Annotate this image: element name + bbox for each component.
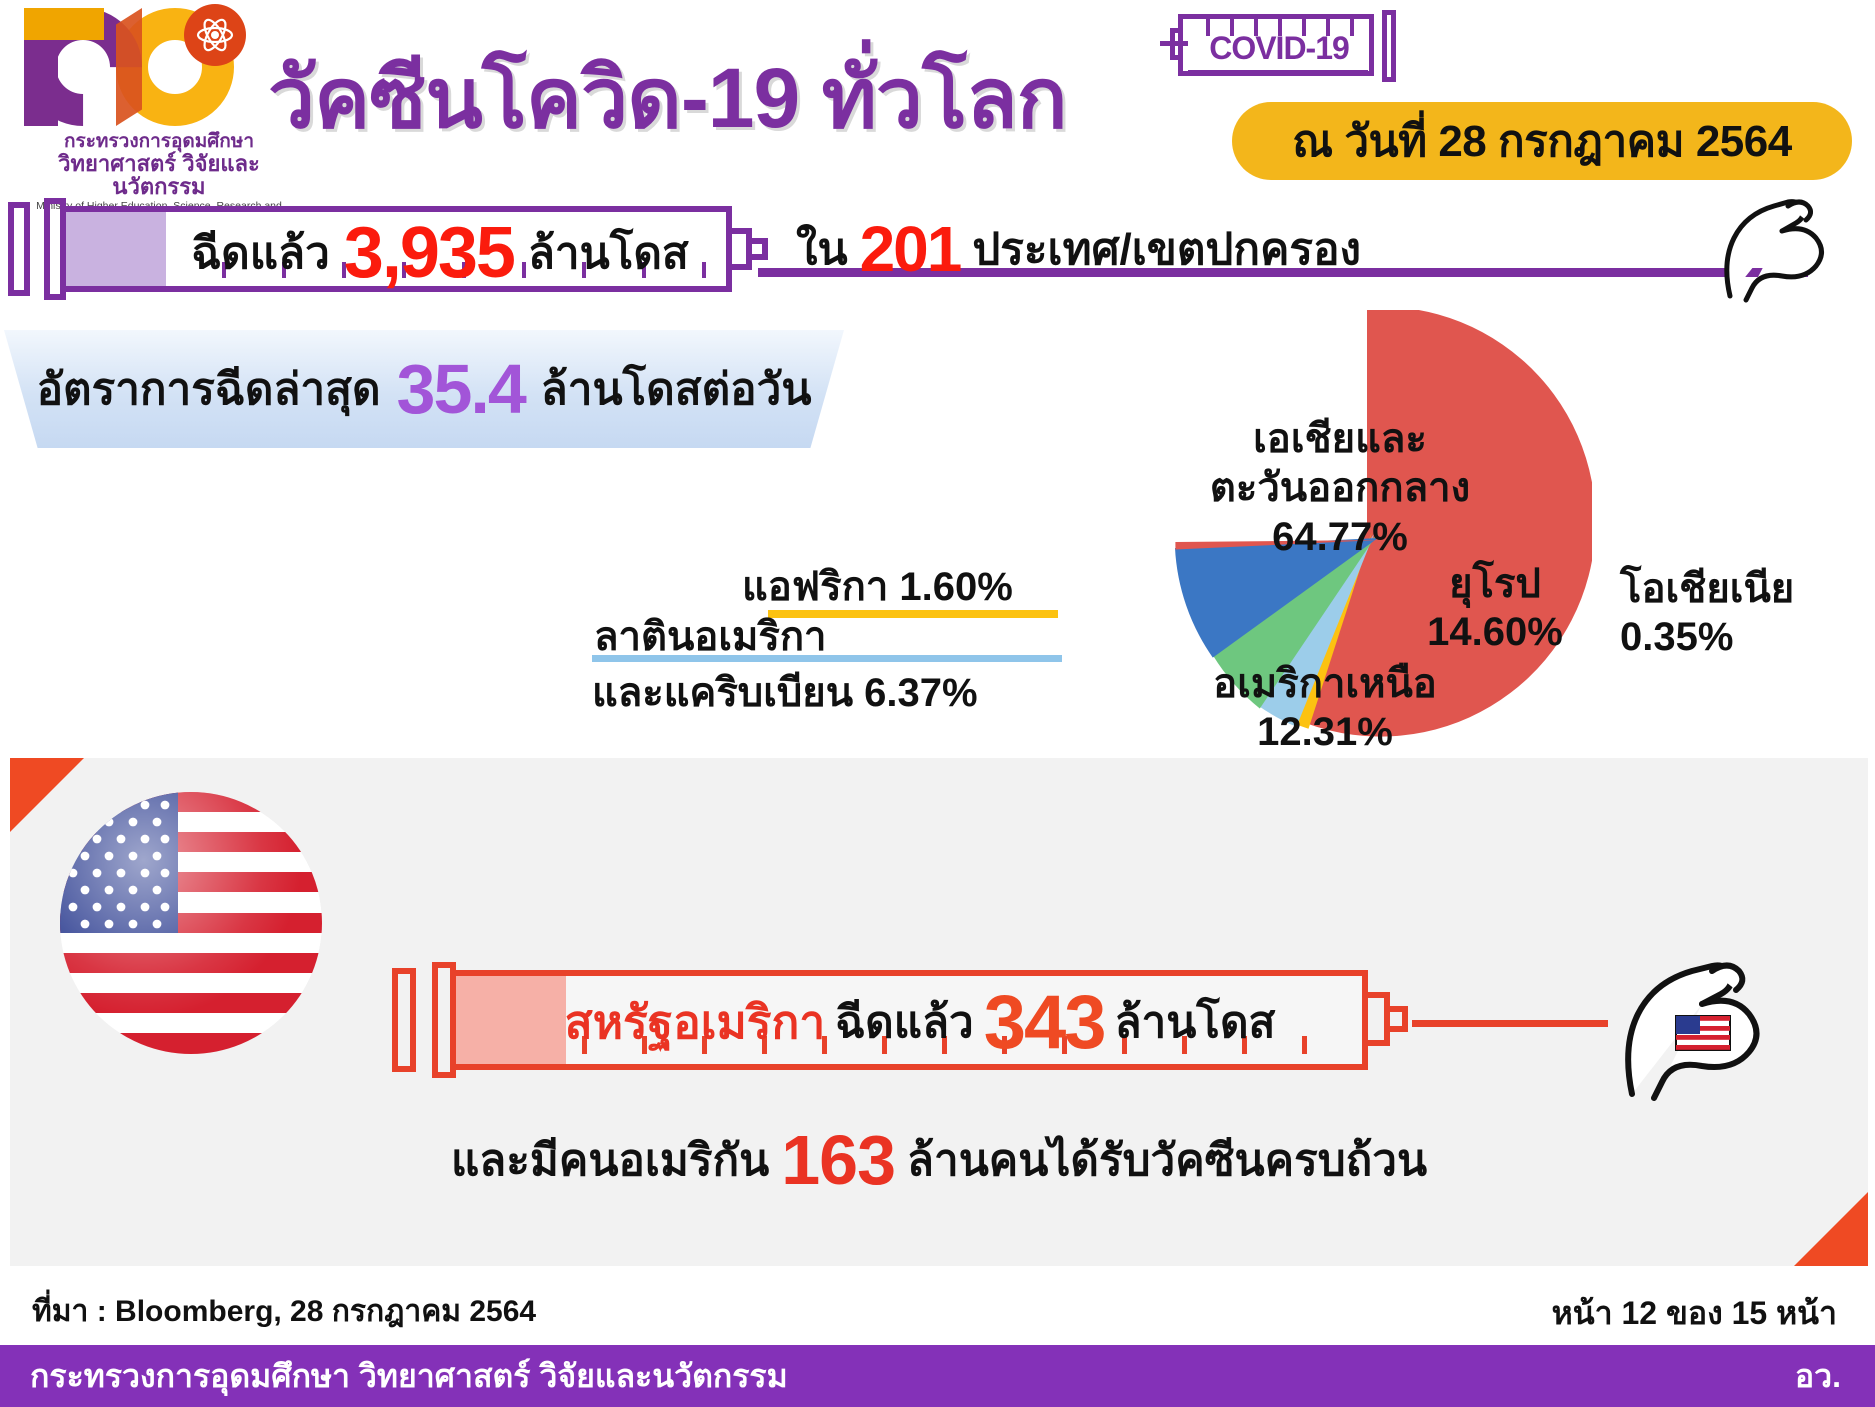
- pie-label-asia: เอเชียและ ตะวันออกกลาง 64.77%: [1180, 415, 1500, 561]
- global-doses-text: ฉีดแล้ว 3,935 ล้านโดส: [150, 218, 730, 288]
- syringe-plunger: [1382, 10, 1396, 82]
- pie-label-north-value: 12.31%: [1160, 708, 1490, 756]
- atom-icon: [184, 4, 246, 66]
- global-doses-value: 3,935: [344, 212, 514, 294]
- usa-doses-text: สหรัฐอเมริกา ฉีดแล้ว 343 ล้านโดส: [470, 980, 1370, 1064]
- countries-text: ใน 201 ประเทศ/เขตปกครอง: [796, 218, 1361, 280]
- pie-label-europe-value: 14.60%: [1400, 608, 1590, 656]
- logo-ring-left-top: [24, 8, 104, 40]
- corner-accent-bottom-right: [1794, 1192, 1868, 1266]
- pie-label-north-name: อเมริกาเหนือ: [1160, 660, 1490, 708]
- page-number: หน้า 12 ของ 15 หน้า: [1552, 1288, 1837, 1339]
- usa-doses-suffix: ล้านโดส: [1115, 987, 1276, 1057]
- pie-label-north-america: อเมริกาเหนือ 12.31%: [1160, 660, 1490, 756]
- ministry-logo: กระทรวงการอุดมศึกษา วิทยาศาสตร์ วิจัยและ…: [14, 8, 304, 193]
- logo-text-line1: กระทรวงการอุดมศึกษา: [14, 132, 304, 152]
- covid-syringe-icon: COVID-19: [1160, 6, 1415, 86]
- vaccination-rate-banner: อัตราการฉีดล่าสุด 35.4 ล้านโดสต่อวัน: [4, 330, 844, 448]
- flag-gloss-overlay: [60, 792, 322, 1054]
- pie-label-oceania-value: 0.35%: [1620, 613, 1870, 661]
- covid-badge-underline: [1188, 70, 1368, 74]
- pie-label-asia-line1: เอเชียและ: [1180, 415, 1500, 464]
- usa-fully-prefix: และมีคนอเมริกัน: [451, 1125, 769, 1195]
- usa-fully-value: 163: [781, 1120, 895, 1200]
- logo-mark: [24, 8, 264, 128]
- flexed-arm-icon: [1700, 176, 1830, 306]
- pie-label-oceania: โอเชียเนีย 0.35%: [1620, 565, 1870, 661]
- global-doses-prefix: ฉีดแล้ว: [191, 218, 330, 288]
- rate-suffix: ล้านโดสต่อวัน: [541, 354, 812, 424]
- source-note: ที่มา : Bloomberg, 28 กรกฎาคม 2564: [32, 1288, 536, 1335]
- date-badge: ณ วันที่ 28 กรกฎาคม 2564: [1232, 102, 1852, 180]
- covid-badge-label: COVID-19: [1186, 30, 1372, 67]
- usa-fully-suffix: ล้านคนได้รับวัคซีนครบถ้วน: [907, 1125, 1427, 1195]
- countries-prefix: ใน: [796, 214, 848, 284]
- page-title: วัคซีนโควิด-19 ทั่วโลก: [268, 30, 1067, 164]
- footer-ministry-name: กระทรวงการอุดมศึกษา วิทยาศาสตร์ วิจัยและ…: [30, 1351, 788, 1402]
- syringe-plunger-rod: [392, 968, 416, 1072]
- pie-label-europe: ยุโรป 14.60%: [1400, 560, 1590, 656]
- pie-label-asia-value: 64.77%: [1180, 513, 1500, 562]
- flexed-arm-us-flag-icon: [1592, 930, 1768, 1106]
- usa-country-label: สหรัฐอเมริกา: [565, 986, 826, 1059]
- syringe-tip-outlet: [1384, 1006, 1408, 1032]
- rate-value: 35.4: [397, 349, 525, 429]
- rate-prefix: อัตราการฉีดล่าสุด: [37, 354, 381, 424]
- pie-label-asia-line2: ตะวันออกกลาง: [1180, 464, 1500, 513]
- vaccination-rate-text: อัตราการฉีดล่าสุด 35.4 ล้านโดสต่อวัน: [37, 349, 812, 429]
- pie-label-oceania-name: โอเชียเนีย: [1620, 565, 1870, 613]
- us-flag-icon: [60, 792, 322, 1054]
- usa-fully-vaccinated-text: และมีคนอเมริกัน 163 ล้านคนได้รับวัคซีนคร…: [10, 1120, 1868, 1200]
- usa-doses-value: 343: [984, 979, 1105, 1066]
- syringe-plunger-rod: [8, 202, 30, 296]
- logo-text-line2: วิทยาศาสตร์ วิจัยและนวัตกรรม: [14, 152, 304, 198]
- countries-suffix: ประเทศ/เขตปกครอง: [972, 214, 1361, 284]
- footer-bar: กระทรวงการอุดมศึกษา วิทยาศาสตร์ วิจัยและ…: [0, 1345, 1875, 1407]
- pie-label-latin-line2: และแคริบเบียน 6.37%: [592, 660, 978, 724]
- usa-needle-line: [1412, 1020, 1608, 1027]
- global-doses-suffix: ล้านโดส: [528, 218, 689, 288]
- corner-accent-top-left: [10, 758, 84, 832]
- usa-doses-prefix: ฉีดแล้ว: [835, 987, 974, 1057]
- syringe-tip-outlet: [746, 238, 768, 260]
- logo-overlap: [116, 8, 142, 126]
- footer-abbreviation: อว.: [1795, 1351, 1841, 1402]
- date-badge-label: ณ วันที่ 28 กรกฎาคม 2564: [1292, 106, 1791, 176]
- countries-value: 201: [860, 212, 961, 286]
- pie-label-europe-name: ยุโรป: [1400, 560, 1590, 608]
